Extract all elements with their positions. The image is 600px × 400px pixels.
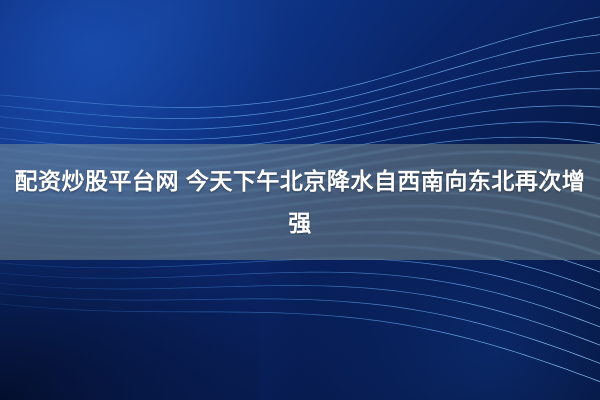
- page-title: 配资炒股平台网 今天下午北京降水自西南向东北再次增强: [14, 160, 586, 244]
- headline-banner: 配资炒股平台网 今天下午北京降水自西南向东北再次增强: [0, 144, 600, 260]
- image-canvas: 配资炒股平台网 今天下午北京降水自西南向东北再次增强: [0, 0, 600, 400]
